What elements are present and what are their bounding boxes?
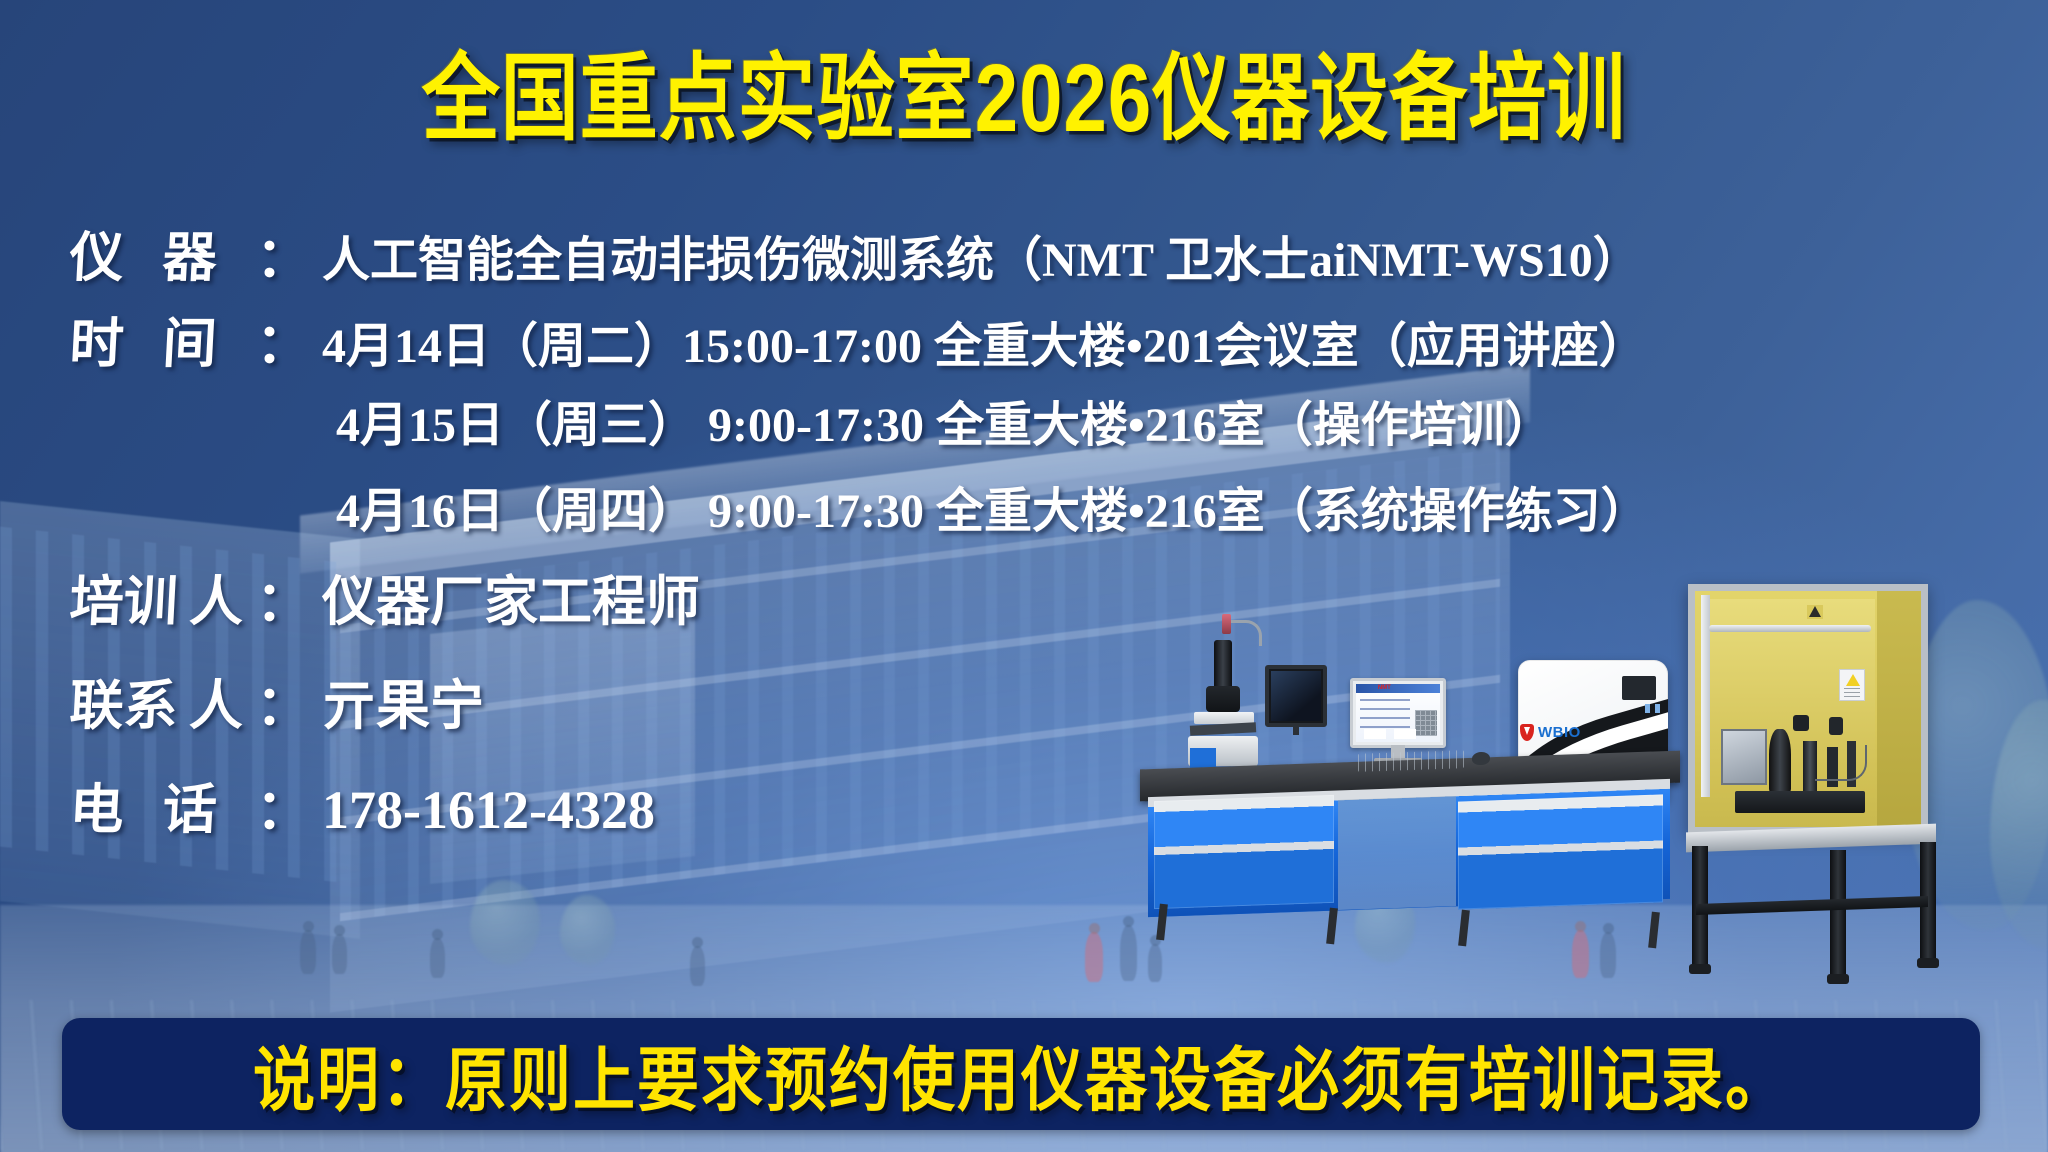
- value-trainer: 仪器厂家工程师: [310, 557, 700, 636]
- poster-canvas: NMT WBIO: [0, 0, 2048, 1152]
- bench-leg: [1648, 912, 1660, 949]
- poster-title: 全国重点实验室2026仪器设备培训: [0, 42, 2048, 154]
- label-time: 时 间 ：: [68, 299, 312, 378]
- pedestrian-silhouette: [430, 938, 445, 978]
- value-instrument: 人工智能全自动非损伤微测系统（NMT 卫水士aiNMT-WS10）: [310, 220, 1641, 290]
- info-row-time-3: 4月16日（周四） 9:00-17:30 全重大楼•216室（系统操作练习）: [70, 471, 2030, 557]
- label-instrument: 仪 器 ：: [68, 213, 312, 292]
- optical-table-foot: [1827, 974, 1849, 984]
- info-row-time-2: 4月15日（周三） 9:00-17:30 全重大楼•216室（操作培训）: [70, 385, 2030, 471]
- label-trainer-char-1: 培训: [68, 557, 180, 636]
- info-row-phone: 电 话 ： 178-1612-4328: [70, 765, 2030, 869]
- pedestrian-silhouette: [1120, 925, 1137, 981]
- info-row-instrument: 仪 器 ： 人工智能全自动非损伤微测系统（NMT 卫水士aiNMT-WS10）: [70, 213, 2030, 299]
- pedestrian-silhouette: [1085, 932, 1103, 982]
- bench-leg: [1458, 910, 1470, 947]
- value-time-3: 4月16日（周四） 9:00-17:30 全重大楼•216室（系统操作练习）: [310, 471, 1649, 541]
- note-banner-text: 说明：原则上要求预约使用仪器设备必须有培训记录。: [253, 1024, 1789, 1125]
- label-trainer: 培训 人 ：: [68, 557, 312, 636]
- optical-table-foot: [1689, 964, 1711, 974]
- info-block: 仪 器 ： 人工智能全自动非损伤微测系统（NMT 卫水士aiNMT-WS10） …: [70, 213, 2030, 869]
- value-contact: 亓果宁: [310, 661, 484, 740]
- label-contact-char-1: 联系: [68, 661, 180, 740]
- value-time-2: 4月15日（周三） 9:00-17:30 全重大楼•216室（操作培训）: [310, 385, 1553, 455]
- label-phone-char-1: 电: [68, 765, 126, 844]
- pedestrian-silhouette: [690, 946, 705, 986]
- info-row-trainer: 培训 人 ： 仪器厂家工程师: [70, 557, 2030, 661]
- label-time-char-2: 间: [161, 299, 219, 378]
- pedestrian-silhouette: [300, 930, 316, 974]
- optical-table-brace: [1696, 896, 1928, 915]
- tree-shape: [470, 880, 540, 965]
- label-time-char-1: 时: [68, 299, 126, 378]
- info-row-contact: 联系 人 ： 亓果宁: [70, 661, 2030, 765]
- label-trainer-colon: ：: [256, 557, 310, 636]
- info-row-time-1: 时 间 ： 4月14日（周二）15:00-17:00 全重大楼•201会议室（应…: [70, 299, 2030, 385]
- bench-leg: [1326, 908, 1338, 945]
- value-time-1: 4月14日（周二）15:00-17:00 全重大楼•201会议室（应用讲座）: [310, 306, 1647, 376]
- label-phone-colon: ：: [256, 765, 310, 844]
- label-phone: 电 话 ：: [68, 765, 312, 844]
- label-phone-char-2: 话: [161, 765, 219, 844]
- label-contact: 联系 人 ：: [68, 661, 312, 740]
- label-contact-char-2: 人: [188, 661, 246, 740]
- optical-table-foot: [1917, 958, 1939, 968]
- value-phone: 178-1612-4328: [310, 779, 655, 841]
- tree-shape: [560, 895, 615, 965]
- label-instrument-char-1: 仪: [68, 213, 126, 292]
- label-trainer-char-2: 人: [188, 557, 246, 636]
- label-contact-colon: ：: [256, 661, 310, 740]
- label-instrument-char-2: 器: [161, 213, 219, 292]
- note-banner: 说明：原则上要求预约使用仪器设备必须有培训记录。: [62, 1018, 1980, 1130]
- label-time-colon: ：: [256, 299, 310, 378]
- label-instrument-colon: ：: [256, 213, 310, 292]
- pedestrian-silhouette: [332, 934, 347, 974]
